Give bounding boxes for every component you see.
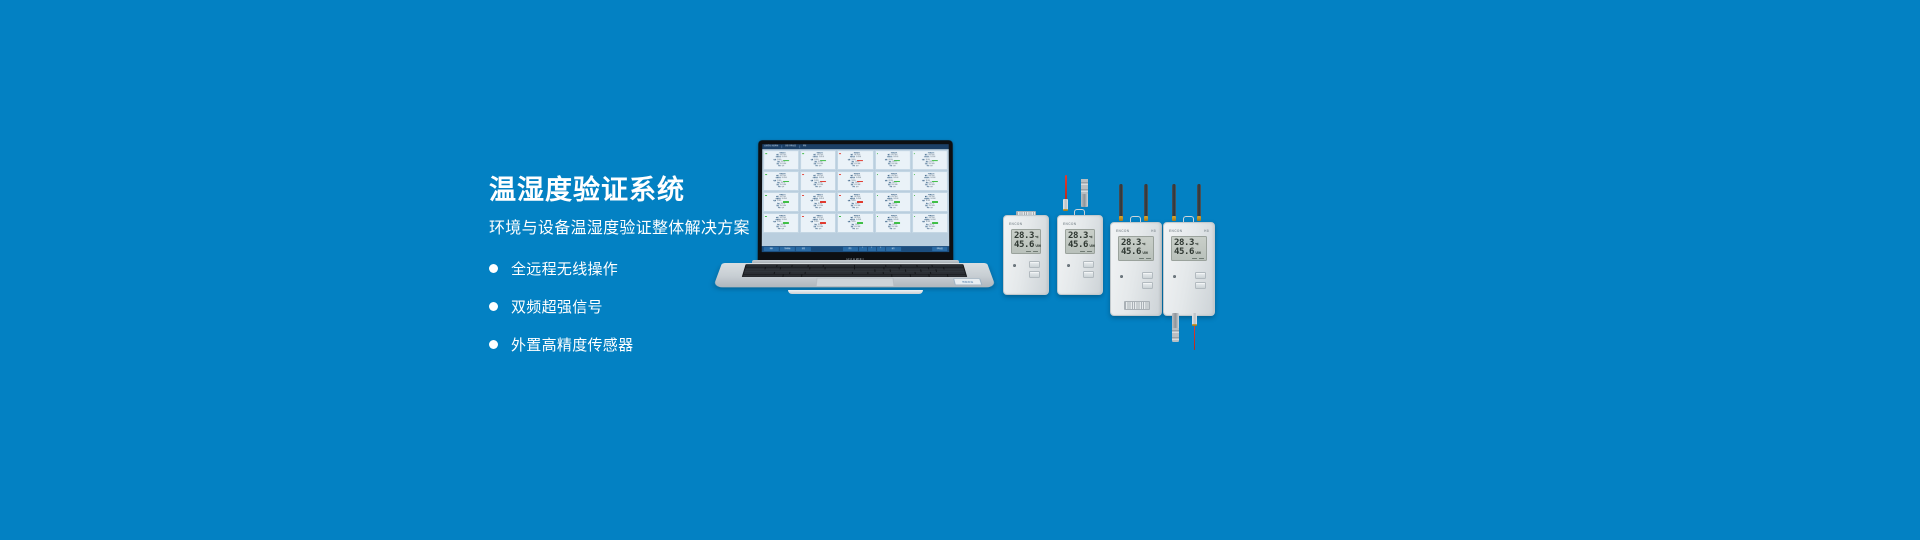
- lcd-humidity-unit: %RH: [1195, 252, 1201, 255]
- card-field-list: 编号WS-T1001采集时间10:28:06电量78.26%温度28.3 ℃湿度…: [802, 156, 834, 169]
- lcd-humidity-value: 45.6: [1014, 241, 1034, 250]
- card-field-list: 编号WS-T1001采集时间10:28:06电量78.26%温度28.3 ℃湿度…: [877, 156, 909, 169]
- card-field-row: 状态在线: [839, 229, 871, 231]
- card-field-key: 电量: [885, 181, 888, 183]
- card-status-led-icon: [802, 216, 804, 218]
- device-brand-row: ENCON H8: [1116, 228, 1156, 233]
- card-field-key: 电量: [848, 201, 851, 203]
- bullet-dot-icon: [489, 302, 498, 311]
- monitoring-card[interactable]: 监测点02编号WS-T1001采集时间10:28:06电量78.26%温度28.…: [800, 150, 836, 170]
- device-brand-row: ENCON: [1063, 221, 1097, 226]
- card-field-key: 电量: [773, 222, 776, 224]
- card-field-list: 编号WS-T1001采集时间10:28:06电量78.26%温度28.3 ℃湿度…: [765, 197, 797, 210]
- monitoring-card[interactable]: 监测点19编号WS-T1001采集时间10:28:06电量78.26%温度28.…: [875, 213, 911, 233]
- card-status-led-icon: [765, 195, 767, 197]
- card-field-key: 电量: [811, 181, 814, 183]
- menu-item[interactable]: 报警 系统设置: [785, 144, 796, 149]
- lcd-humidity-unit: %RH: [1035, 245, 1041, 248]
- card-status-led-icon: [839, 216, 841, 218]
- monitoring-card[interactable]: 监测点09编号WS-T1001采集时间10:28:06电量78.26%温度28.…: [875, 171, 911, 191]
- device-button-down[interactable]: [1142, 282, 1153, 289]
- monitoring-card[interactable]: 监测点18编号WS-T1001采集时间10:28:06电量78.26%温度28.…: [837, 213, 873, 233]
- toolbar-tab[interactable]: 2: [868, 247, 876, 251]
- card-field-key: 电量: [810, 201, 813, 203]
- probe-wire: [1065, 175, 1067, 201]
- card-field-value: 在线: [781, 229, 784, 231]
- toolbar-tab[interactable]: 首页: [842, 247, 857, 251]
- card-field-key: 电量: [773, 160, 776, 162]
- card-field-key: 状态: [890, 229, 893, 231]
- card-status-led-icon: [877, 153, 879, 155]
- card-field-key: 状态: [852, 208, 855, 210]
- card-field-key: 状态: [890, 166, 893, 168]
- card-field-row: 状态在线: [877, 208, 909, 210]
- menu-divider: [781, 145, 782, 148]
- lcd-indicator-row: [1068, 251, 1092, 253]
- device-button-group[interactable]: [1142, 272, 1153, 289]
- device-wireless-logger-a: ENCON H8 28.3 ℃ 45.6 %RH: [1110, 222, 1160, 314]
- lcd-humidity-line: 45.6 %RH: [1068, 241, 1092, 250]
- monitoring-card[interactable]: 监测点12编号WS-T1001采集时间10:28:06电量78.26%温度28.…: [800, 192, 836, 212]
- device-button-group[interactable]: [1083, 261, 1094, 278]
- monitoring-card[interactable]: 监测点08编号WS-T1001采集时间10:28:06电量78.26%温度28.…: [837, 171, 873, 191]
- card-field-list: 编号WS-T1001采集时间10:28:06电量78.26%温度28.3 ℃湿度…: [914, 176, 946, 189]
- card-status-led-icon: [802, 174, 804, 176]
- laptop-screen: 设备管理 历史数据 报警 系统设置 帮助 监测点01编号WS-T1001采集时间…: [762, 144, 949, 252]
- card-status-led-icon: [765, 174, 767, 176]
- card-field-value: 在线: [819, 208, 822, 210]
- device-button-down[interactable]: [1083, 271, 1094, 278]
- card-status-led-icon: [877, 174, 879, 176]
- device-button-down[interactable]: [1195, 282, 1206, 289]
- card-status-led-icon: [839, 195, 841, 197]
- card-field-key: 状态: [927, 208, 930, 210]
- antenna-right-icon: [1144, 184, 1148, 218]
- device-wireless-logger-b: ENCON H8 28.3 ℃ 45.6 %RH: [1163, 222, 1213, 314]
- device-button-up[interactable]: [1029, 261, 1040, 268]
- lcd-humidity-unit: %RH: [1142, 252, 1148, 255]
- list-item: 外置高精度传感器: [489, 334, 909, 355]
- laptop-base: 智能终端: [713, 263, 996, 287]
- device-button-group[interactable]: [1029, 261, 1040, 278]
- card-field-row: 状态在线: [765, 166, 797, 168]
- monitoring-card[interactable]: 监测点13编号WS-T1001采集时间10:28:06电量78.26%温度28.…: [837, 192, 873, 212]
- card-field-value: 在线: [930, 208, 933, 210]
- card-field-key: 状态: [852, 187, 855, 189]
- card-field-key: 状态: [815, 166, 818, 168]
- monitoring-card[interactable]: 监测点14编号WS-T1001采集时间10:28:06电量78.26%温度28.…: [875, 192, 911, 212]
- device-lcd-display: 28.3 ℃ 45.6 %RH: [1065, 229, 1095, 254]
- card-field-row: 状态在线: [914, 187, 946, 189]
- card-field-value: 在线: [930, 229, 933, 231]
- card-field-key: 电量: [885, 201, 888, 203]
- device-logger-internal: ENCON 28.3 ℃ 45.6 %RH: [1003, 215, 1047, 293]
- card-field-row: 状态在线: [914, 208, 946, 210]
- status-led-icon: [1120, 275, 1123, 278]
- card-field-key: 电量: [922, 160, 925, 162]
- probe-mesh-icon: [1081, 179, 1088, 194]
- card-field-key: 状态: [778, 229, 781, 231]
- card-field-list: 编号WS-T1001采集时间10:28:06电量78.26%温度28.3 ℃湿度…: [802, 218, 834, 231]
- lcd-temperature-unit: ℃: [1195, 243, 1199, 246]
- card-field-key: 电量: [922, 201, 925, 203]
- card-field-key: 状态: [815, 229, 818, 231]
- card-field-value: 在线: [819, 187, 822, 189]
- toolbar-tab[interactable]: 系统设置: [932, 247, 947, 251]
- device-brand-right: H8: [1151, 229, 1156, 233]
- card-field-row: 状态在线: [877, 187, 909, 189]
- card-field-list: 编号WS-T1001采集时间10:28:06电量78.26%温度28.3 ℃湿度…: [839, 218, 871, 231]
- card-field-row: 状态在线: [877, 229, 909, 231]
- toolbar-tab[interactable]: 1: [859, 247, 867, 251]
- antenna-base-left-icon: [1172, 216, 1177, 221]
- card-field-key: 状态: [852, 229, 855, 231]
- device-brand-left: ENCON: [1169, 229, 1183, 233]
- monitoring-card[interactable]: 监测点06编号WS-T1001采集时间10:28:06电量78.26%温度28.…: [763, 171, 799, 191]
- laptop-sticker: 智能终端: [953, 278, 982, 285]
- card-field-value: 在线: [930, 166, 933, 168]
- card-field-row: 状态在线: [839, 166, 871, 168]
- antenna-base-left-icon: [1119, 216, 1124, 221]
- keyboard-row: [743, 274, 967, 276]
- card-field-key: 状态: [927, 229, 930, 231]
- monitoring-card[interactable]: 监测点03编号WS-T1001采集时间10:28:06电量78.26%温度28.…: [837, 150, 873, 170]
- feature-label: 外置高精度传感器: [511, 334, 633, 355]
- card-field-value: 在线: [893, 166, 896, 168]
- card-status-led-icon: [765, 153, 767, 155]
- monitoring-card[interactable]: 监测点07编号WS-T1001采集时间10:28:06电量78.26%温度28.…: [800, 171, 836, 191]
- device-body: ENCON 28.3 ℃ 45.6 %RH: [1003, 215, 1049, 295]
- toolbar-tab[interactable]: 报警: [796, 247, 811, 251]
- status-led-icon: [1173, 275, 1176, 278]
- lcd-humidity-value: 45.6: [1068, 241, 1088, 250]
- monitoring-card[interactable]: 监测点20编号WS-T1001采集时间10:28:06电量78.26%温度28.…: [912, 213, 948, 233]
- card-field-row: 状态在线: [802, 229, 834, 231]
- card-field-list: 编号WS-T1001采集时间10:28:06电量78.26%温度28.3 ℃湿度…: [765, 218, 797, 231]
- device-button-up[interactable]: [1142, 272, 1153, 279]
- card-field-value: 在线: [819, 229, 822, 231]
- card-field-key: 状态: [778, 166, 781, 168]
- card-field-key: 电量: [885, 222, 888, 224]
- app-toolbar: 刷新导出数据报警首页123末页系统设置: [762, 246, 949, 252]
- device-lcd-display: 28.3 ℃ 45.6 %RH: [1011, 229, 1041, 254]
- lcd-indicator-row: [1014, 251, 1038, 253]
- device-body: ENCON H8 28.3 ℃ 45.6 %RH: [1110, 222, 1162, 316]
- card-field-key: 状态: [815, 187, 818, 189]
- menu-divider: [799, 145, 800, 148]
- card-field-row: 状态在线: [802, 187, 834, 189]
- card-field-list: 编号WS-T1001采集时间10:28:06电量78.26%温度28.3 ℃湿度…: [765, 156, 797, 169]
- card-field-key: 电量: [922, 181, 925, 183]
- card-field-key: 状态: [778, 208, 781, 210]
- monitoring-card[interactable]: 监测点01编号WS-T1001采集时间10:28:06电量78.26%温度28.…: [763, 150, 799, 170]
- lcd-humidity-line: 45.6 %RH: [1014, 241, 1038, 250]
- card-field-row: 状态在线: [914, 166, 946, 168]
- card-field-list: 编号WS-T1001采集时间10:28:06电量78.26%温度28.3 ℃湿度…: [839, 176, 871, 189]
- antenna-base-right-icon: [1197, 216, 1202, 221]
- laptop-lid: 设备管理 历史数据 报警 系统设置 帮助 监测点01编号WS-T1001采集时间…: [758, 140, 954, 263]
- antenna-base-right-icon: [1144, 216, 1149, 221]
- feature-label: 双频超强信号: [511, 296, 603, 317]
- status-led-icon: [1067, 264, 1070, 267]
- card-field-value: 在线: [782, 187, 785, 189]
- device-button-up[interactable]: [1195, 272, 1206, 279]
- card-field-list: 编号WS-T1001采集时间10:28:06电量78.26%温度28.3 ℃湿度…: [877, 176, 909, 189]
- lcd-indicator-row: [1121, 258, 1151, 260]
- card-field-key: 状态: [927, 166, 930, 168]
- toolbar-tab[interactable]: 导出数据: [780, 247, 795, 251]
- card-field-value: 在线: [893, 208, 896, 210]
- card-field-row: 状态在线: [765, 187, 797, 189]
- monitoring-card[interactable]: 监测点10编号WS-T1001采集时间10:28:06电量78.26%温度28.…: [912, 171, 948, 191]
- card-field-key: 电量: [922, 222, 925, 224]
- card-field-key: 状态: [890, 187, 893, 189]
- card-status-led-icon: [765, 216, 767, 218]
- card-field-row: 状态在线: [802, 208, 834, 210]
- card-field-list: 编号WS-T1001采集时间10:28:06电量78.26%温度28.3 ℃湿度…: [765, 176, 797, 189]
- card-field-key: 状态: [890, 208, 893, 210]
- card-field-row: 状态在线: [802, 166, 834, 168]
- lcd-indicator-row: [1174, 258, 1204, 260]
- card-status-led-icon: [839, 174, 841, 176]
- monitoring-card[interactable]: 监测点16编号WS-T1001采集时间10:28:06电量78.26%温度28.…: [763, 213, 799, 233]
- card-field-row: 状态在线: [839, 208, 871, 210]
- menu-item[interactable]: 设备管理 历史数据: [764, 144, 778, 149]
- device-lcd-display: 28.3 ℃ 45.6 %RH: [1171, 236, 1207, 261]
- card-field-list: 编号WS-T1001采集时间10:28:06电量78.26%温度28.3 ℃湿度…: [839, 156, 871, 169]
- card-status-led-icon: [914, 153, 916, 155]
- card-field-key: 状态: [815, 208, 818, 210]
- card-status-led-icon: [914, 195, 916, 197]
- lcd-humidity-line: 45.6 %RH: [1121, 248, 1151, 257]
- card-field-key: 电量: [885, 160, 888, 162]
- card-field-list: 编号WS-T1001采集时间10:28:06电量78.26%温度28.3 ℃湿度…: [839, 197, 871, 210]
- bullet-dot-icon: [489, 340, 498, 349]
- card-field-row: 状态在线: [765, 229, 797, 231]
- device-brand-left: ENCON: [1116, 229, 1130, 233]
- device-button-down[interactable]: [1029, 271, 1040, 278]
- probe-body-icon: [1081, 193, 1088, 207]
- probe-mesh-icon: [1172, 328, 1179, 342]
- probe-body-icon: [1172, 313, 1179, 329]
- device-brand-row: ENCON H8: [1169, 228, 1209, 233]
- device-brand-row: ENCON: [1009, 221, 1043, 226]
- antenna-right-icon: [1197, 184, 1201, 218]
- card-field-list: 编号WS-T1001采集时间10:28:06电量78.26%温度28.3 ℃湿度…: [914, 218, 946, 231]
- device-brand-left: ENCON: [1063, 222, 1077, 226]
- device-brand-left: ENCON: [1009, 222, 1023, 226]
- card-field-key: 电量: [811, 160, 814, 162]
- card-field-key: 电量: [848, 160, 851, 162]
- device-body: ENCON 28.3 ℃ 45.6 %RH: [1057, 215, 1103, 295]
- card-field-key: 电量: [810, 222, 813, 224]
- monitoring-card[interactable]: 监测点11编号WS-T1001采集时间10:28:06电量78.26%温度28.…: [763, 192, 799, 212]
- card-field-value: 在线: [893, 229, 896, 231]
- card-field-row: 状态在线: [765, 208, 797, 210]
- device-brand-right: H8: [1204, 229, 1209, 233]
- card-field-list: 编号WS-T1001采集时间10:28:06电量78.26%温度28.3 ℃湿度…: [877, 218, 909, 231]
- laptop-base-front-edge: [788, 290, 923, 294]
- lcd-humidity-unit: %RH: [1089, 245, 1095, 248]
- card-field-value: 在线: [819, 166, 822, 168]
- card-status-led-icon: [839, 153, 841, 155]
- card-status-led-icon: [914, 174, 916, 176]
- card-field-key: 状态: [927, 187, 930, 189]
- lcd-temperature-unit: ℃: [1035, 236, 1039, 239]
- monitoring-card[interactable]: 监测点15编号WS-T1001采集时间10:28:06电量78.26%温度28.…: [912, 192, 948, 212]
- card-field-list: 编号WS-T1001采集时间10:28:06电量78.26%温度28.3 ℃湿度…: [802, 197, 834, 210]
- card-field-value: 在线: [856, 229, 859, 231]
- card-field-list: 编号WS-T1001采集时间10:28:06电量78.26%温度28.3 ℃湿度…: [802, 176, 834, 189]
- card-field-value: 在线: [782, 208, 785, 210]
- probe-ring-icon: [1063, 209, 1068, 211]
- device-logger-external-probe: ENCON 28.3 ℃ 45.6 %RH: [1057, 215, 1101, 293]
- toolbar-tab[interactable]: 刷新: [764, 247, 779, 251]
- card-field-value: 在线: [856, 187, 859, 189]
- card-status-led-icon: [877, 216, 879, 218]
- card-status-led-icon: [914, 216, 916, 218]
- card-field-key: 电量: [773, 181, 776, 183]
- monitoring-card[interactable]: 监测点05编号WS-T1001采集时间10:28:06电量78.26%温度28.…: [912, 150, 948, 170]
- card-status-led-icon: [802, 195, 804, 197]
- device-button-up[interactable]: [1083, 261, 1094, 268]
- lcd-humidity-line: 45.6 %RH: [1174, 248, 1204, 257]
- card-field-value: 在线: [893, 187, 896, 189]
- card-field-key: 电量: [773, 201, 776, 203]
- antenna-left-icon: [1172, 184, 1176, 218]
- laptop-trackpad[interactable]: [816, 278, 895, 287]
- device-body: ENCON H8 28.3 ℃ 45.6 %RH: [1163, 222, 1215, 316]
- card-field-list: 编号WS-T1001采集时间10:28:06电量78.26%温度28.3 ℃湿度…: [877, 197, 909, 210]
- probe-wire: [1194, 326, 1196, 350]
- monitoring-card-grid: 监测点01编号WS-T1001采集时间10:28:06电量78.26%温度28.…: [762, 149, 949, 246]
- card-status-led-icon: [877, 195, 879, 197]
- toolbar-spacer: [812, 247, 842, 251]
- lcd-humidity-value: 45.6: [1174, 248, 1194, 257]
- card-field-key: 状态: [852, 166, 855, 168]
- card-field-row: 状态在线: [914, 229, 946, 231]
- toolbar-spacer: [902, 247, 932, 251]
- card-field-row: 状态在线: [877, 166, 909, 168]
- status-led-icon: [1013, 264, 1016, 267]
- card-field-key: 电量: [848, 222, 851, 224]
- lcd-humidity-value: 45.6: [1121, 248, 1141, 257]
- card-field-value: 在线: [856, 208, 859, 210]
- lcd-temperature-unit: ℃: [1142, 243, 1146, 246]
- feature-label: 全远程无线操作: [511, 258, 618, 279]
- laptop-product-image: 设备管理 历史数据 报警 系统设置 帮助 监测点01编号WS-T1001采集时间…: [722, 140, 987, 300]
- card-field-key: 状态: [778, 187, 781, 189]
- card-status-led-icon: [802, 153, 804, 155]
- monitoring-card[interactable]: 监测点04编号WS-T1001采集时间10:28:06电量78.26%温度28.…: [875, 150, 911, 170]
- card-field-list: 编号WS-T1001采集时间10:28:06电量78.26%温度28.3 ℃湿度…: [914, 197, 946, 210]
- monitoring-card[interactable]: 监测点17编号WS-T1001采集时间10:28:06电量78.26%温度28.…: [800, 213, 836, 233]
- card-field-row: 状态在线: [839, 187, 871, 189]
- lcd-temperature-unit: ℃: [1089, 236, 1093, 239]
- card-field-value: 在线: [856, 166, 859, 168]
- card-field-value: 在线: [782, 166, 785, 168]
- promo-banner: 温湿度验证系统 环境与设备温湿度验证整体解决方案 全远程无线操作 双频超强信号 …: [0, 0, 1920, 540]
- card-field-list: 编号WS-T1001采集时间10:28:06电量78.26%温度28.3 ℃湿度…: [914, 156, 946, 169]
- device-button-group[interactable]: [1195, 272, 1206, 289]
- card-field-value: 在线: [930, 187, 933, 189]
- card-field-key: 电量: [848, 181, 851, 183]
- menu-item[interactable]: 帮助: [803, 144, 806, 149]
- sensor-grill-icon: [1124, 301, 1150, 310]
- toolbar-tab[interactable]: 末页: [886, 247, 901, 251]
- device-lcd-display: 28.3 ℃ 45.6 %RH: [1118, 236, 1154, 261]
- laptop-keyboard[interactable]: [742, 264, 967, 277]
- toolbar-tab[interactable]: 3: [877, 247, 885, 251]
- antenna-left-icon: [1119, 184, 1123, 218]
- bullet-dot-icon: [489, 264, 498, 273]
